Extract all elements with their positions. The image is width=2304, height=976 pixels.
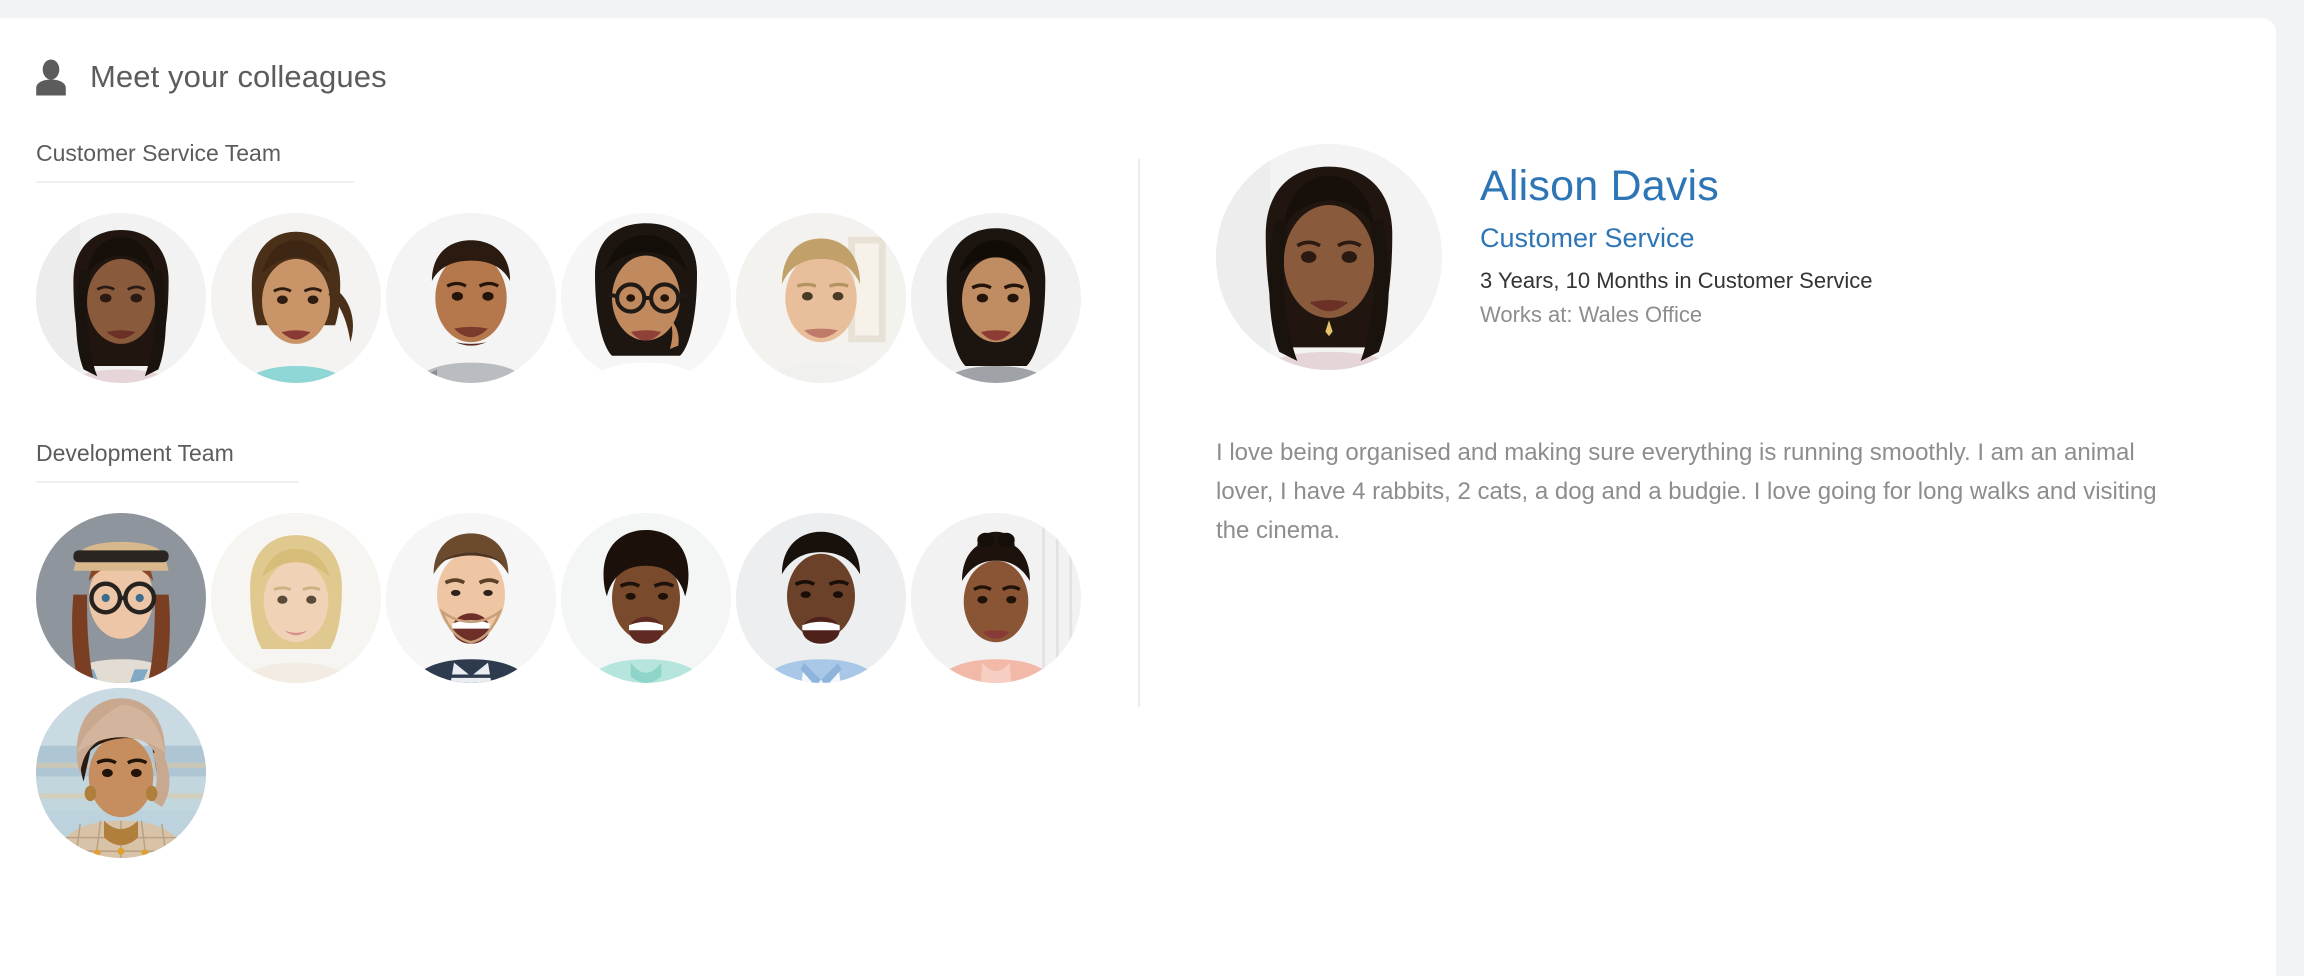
colleague-avatar-8[interactable] xyxy=(211,513,381,683)
avatar-cell xyxy=(911,513,1086,683)
profile-bio: I love being organised and making sure e… xyxy=(1216,434,2176,551)
colleague-avatar-5[interactable] xyxy=(736,213,906,383)
avatar-cell xyxy=(386,513,561,683)
avatar-cell xyxy=(736,213,911,383)
colleague-avatar-12[interactable] xyxy=(911,513,1081,683)
profile-meta: Alison Davis Customer Service 3 Years, 1… xyxy=(1480,140,1873,328)
content-columns: Customer Service Team xyxy=(0,140,2276,976)
profile-office: Works at: Wales Office xyxy=(1480,302,1873,328)
page-header: Meet your colleagues xyxy=(34,58,387,96)
profile-tenure: 3 Years, 10 Months in Customer Service xyxy=(1480,268,1873,294)
page-title: Meet your colleagues xyxy=(90,59,387,95)
colleague-avatar-10[interactable] xyxy=(561,513,731,683)
profile-avatar xyxy=(1216,144,1442,370)
team-group-customer-service: Customer Service Team xyxy=(0,140,1138,388)
group-spacer xyxy=(0,388,1138,440)
team-title-rule xyxy=(36,481,299,483)
team-title-rule xyxy=(36,181,354,183)
colleague-avatar-2[interactable] xyxy=(211,213,381,383)
profile-header: Alison Davis Customer Service 3 Years, 1… xyxy=(1216,140,2236,370)
avatar-cell xyxy=(36,213,211,383)
profile-role: Customer Service xyxy=(1480,223,1873,254)
team-avatar-row xyxy=(0,213,1098,388)
team-title: Development Team xyxy=(0,440,234,481)
avatar-cell xyxy=(736,513,911,683)
avatar-cell xyxy=(911,213,1086,383)
avatar-cell xyxy=(36,513,211,683)
person-icon xyxy=(34,58,68,96)
colleague-avatar-13[interactable] xyxy=(36,688,206,858)
colleague-avatar-6[interactable] xyxy=(911,213,1081,383)
team-title: Customer Service Team xyxy=(0,140,281,181)
teams-panel: Customer Service Team xyxy=(0,140,1138,863)
colleague-avatar-4[interactable] xyxy=(561,213,731,383)
avatar-cell xyxy=(211,213,386,383)
colleague-avatar-11[interactable] xyxy=(736,513,906,683)
content-card: Meet your colleagues Customer Service Te… xyxy=(0,18,2276,976)
colleague-avatar-7[interactable] xyxy=(36,513,206,683)
avatar-cell xyxy=(561,513,736,683)
team-group-development: Development Team xyxy=(0,440,1138,863)
colleague-avatar-3[interactable] xyxy=(386,213,556,383)
team-avatar-row xyxy=(0,513,1098,863)
profile-name: Alison Davis xyxy=(1480,162,1873,211)
app-window: Meet your colleagues Customer Service Te… xyxy=(0,0,2304,976)
avatar-cell xyxy=(36,688,211,858)
colleague-avatar-alison-davis[interactable] xyxy=(36,213,206,383)
colleague-avatar-9[interactable] xyxy=(386,513,556,683)
avatar-cell xyxy=(561,213,736,383)
panel-divider xyxy=(1138,159,1140,707)
avatar-cell xyxy=(386,213,561,383)
avatar-cell xyxy=(211,513,386,683)
profile-panel: Alison Davis Customer Service 3 Years, 1… xyxy=(1216,140,2236,575)
